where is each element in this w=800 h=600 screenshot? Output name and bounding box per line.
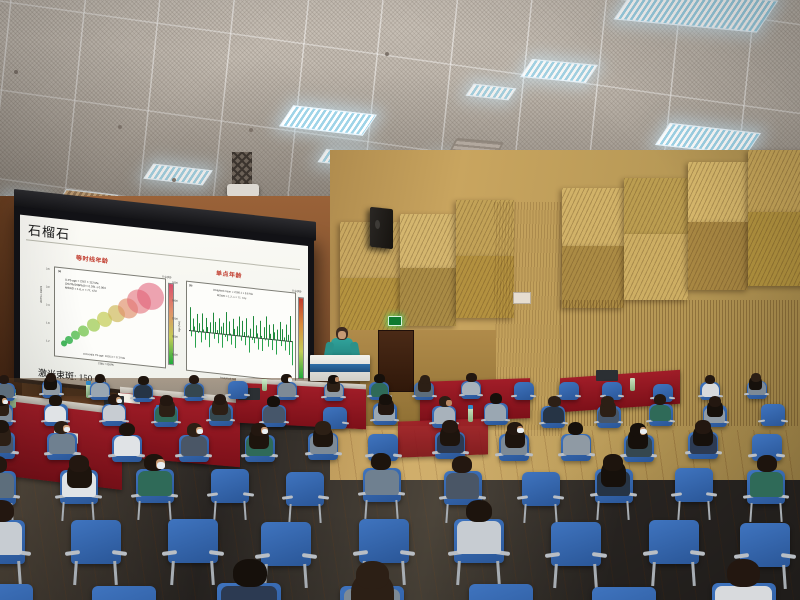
audience-member-head (727, 559, 760, 587)
chair-leg (445, 504, 448, 523)
audience-member-head (0, 420, 9, 434)
audience-member-head (568, 422, 584, 436)
audience-member-head (705, 375, 715, 384)
audience-member-head (490, 393, 502, 404)
chair-leg (73, 561, 77, 585)
audience-member-head (452, 456, 472, 473)
audience-member-head (374, 374, 384, 383)
audience-member-head (371, 453, 391, 470)
chair-leg (456, 561, 460, 585)
audience-member-head (46, 373, 56, 382)
audience-member-head (379, 394, 391, 405)
audience-member-head (356, 561, 389, 589)
chair-back (649, 520, 699, 564)
audience-member-torso (221, 586, 277, 600)
audience-chair (92, 549, 156, 600)
audience-chair (514, 372, 534, 400)
audience-member-head (214, 394, 226, 405)
audience-member-head (601, 396, 613, 407)
audience-member-head (189, 375, 199, 384)
audience-member-head (695, 420, 711, 434)
audience-member-torso (715, 586, 771, 600)
audience-member-face (446, 400, 451, 406)
audience-member-face-mask (157, 462, 165, 468)
audience-area (0, 0, 800, 600)
chair-leg (61, 502, 64, 521)
audience-member-head (69, 455, 89, 472)
audience-chair (649, 491, 699, 564)
chair-leg (523, 504, 526, 523)
audience-member-face-mask (117, 399, 122, 403)
audience-member-head (654, 394, 666, 405)
audience-member-face-mask (288, 378, 292, 381)
chair-leg (210, 561, 214, 585)
audience-member-head (751, 373, 761, 382)
audience-member-head (95, 374, 105, 383)
chair-leg (170, 561, 174, 585)
chair-back (92, 586, 156, 600)
audience-member-head (160, 395, 172, 406)
chair-back (0, 584, 33, 600)
chair-leg (627, 501, 630, 520)
audience-member-torso (134, 385, 152, 399)
audience-chair (168, 490, 218, 563)
audience-member-face (335, 377, 339, 382)
audience-member-head (420, 375, 430, 384)
audience-member-face-mask (517, 428, 523, 433)
chair-back (469, 584, 533, 600)
audience-member-head (119, 423, 135, 437)
audience-member-torso (563, 435, 589, 455)
conference-hall-photo: 石榴石 等时线年龄 (a) U-Pb age = 2267 ± 112 Ma (… (0, 0, 800, 600)
audience-member-face-mask (262, 429, 268, 434)
chair-leg (303, 564, 307, 588)
audience-member-head (757, 455, 777, 472)
audience-member-torso (181, 436, 207, 456)
chair-leg (691, 562, 695, 586)
chair-leg (318, 504, 321, 523)
audience-member-head (267, 396, 279, 407)
audience-member-head (233, 559, 266, 587)
chair-back (514, 382, 534, 400)
chair-leg (243, 501, 246, 520)
audience-member-torso (185, 384, 203, 398)
audience-member-face-mask (3, 400, 8, 404)
audience-chair (0, 547, 33, 600)
audience-member-head (49, 395, 61, 406)
chair-leg (782, 564, 786, 588)
audience-member-face-mask (640, 429, 646, 434)
audience-member-head (548, 396, 560, 407)
audience-member-head (466, 373, 476, 382)
audience-member-head (709, 396, 721, 407)
audience-member-head (315, 421, 331, 435)
audience-member-head (442, 420, 458, 434)
chair-back (168, 519, 218, 563)
chair-leg (707, 501, 710, 520)
chair-leg (137, 501, 140, 520)
audience-member-torso (138, 471, 171, 497)
audience-chair (469, 547, 533, 600)
audience-chair (592, 550, 656, 600)
chair-leg (554, 564, 558, 588)
audience-member-head (138, 376, 148, 385)
audience-member-head (603, 454, 623, 471)
audience-member-torso (462, 382, 480, 396)
chair-back (592, 587, 656, 600)
chair-armrest (575, 394, 581, 397)
audience-member-head (466, 500, 492, 522)
